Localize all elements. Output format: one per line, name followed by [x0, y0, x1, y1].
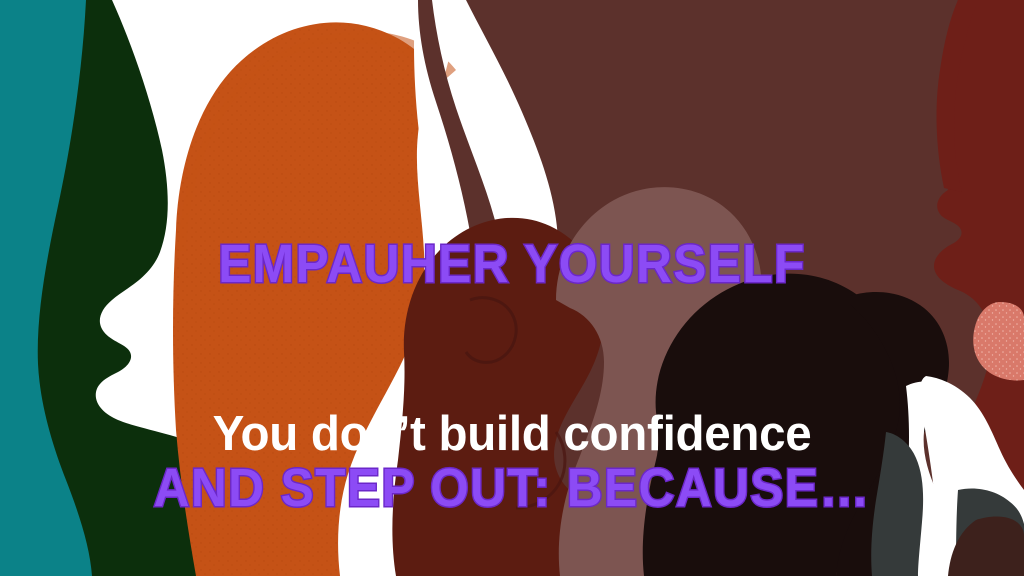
poster-canvas: EMPAUHER YOURSELF AND STEP OUT: BECAUSE……	[0, 0, 1024, 576]
silhouette-artwork	[0, 0, 1024, 576]
